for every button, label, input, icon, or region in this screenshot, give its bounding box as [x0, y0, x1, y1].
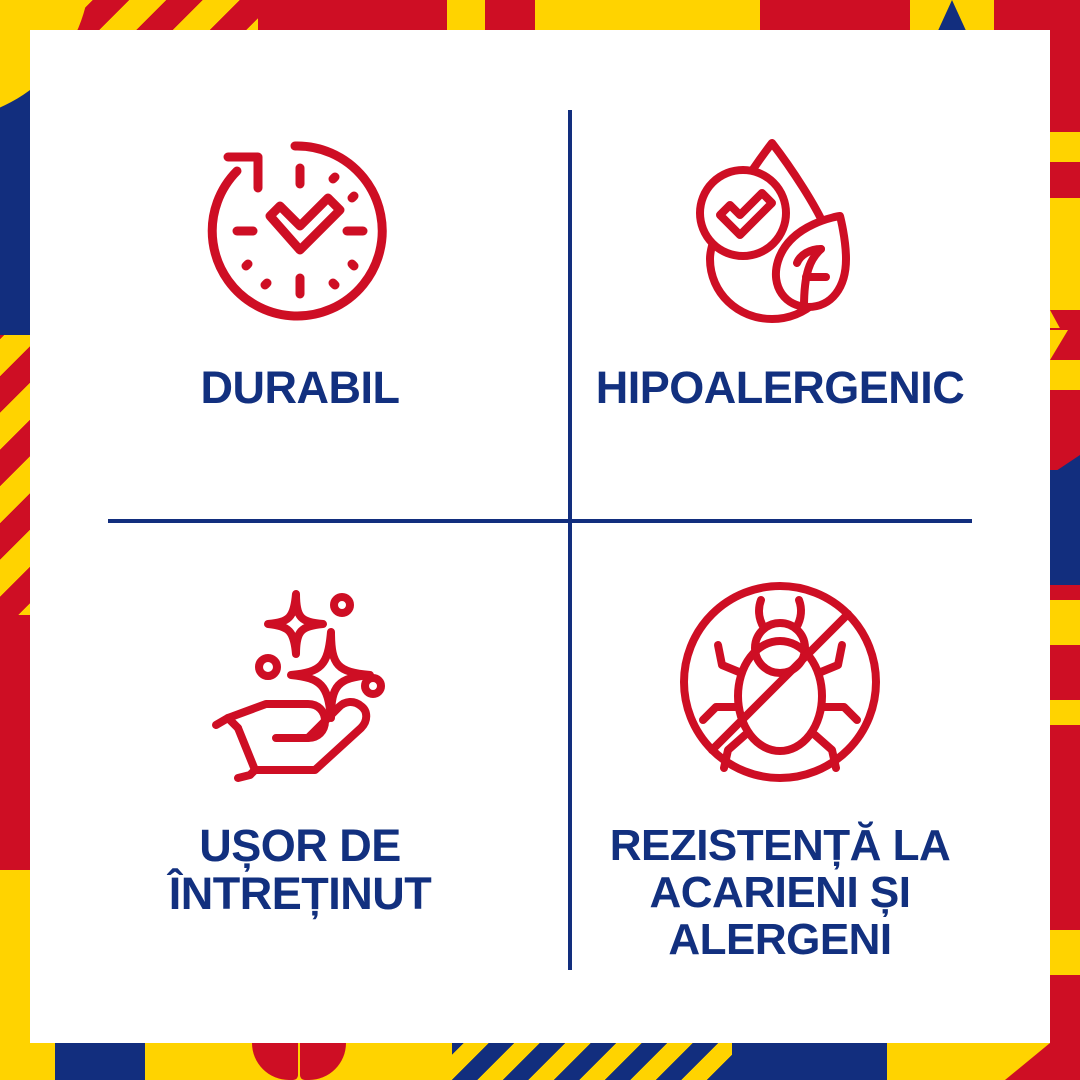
bg-right-navy-block	[1050, 470, 1080, 585]
horizontal-divider	[108, 519, 972, 523]
bg-bottom-right-red	[1050, 1043, 1080, 1080]
poster-canvas: DURABIL HIPOALERGENIC	[0, 0, 1080, 1080]
bg-bottom-navy-1	[55, 1043, 145, 1080]
bg-bottom-navy-2	[732, 1043, 887, 1080]
feature-cell-hipoalergenic[interactable]: HIPOALERGENIC	[545, 126, 1015, 496]
clock-rotate-check-icon	[195, 126, 405, 336]
bg-right-red-triangle-2	[1050, 310, 1080, 360]
hand-sparkles-icon	[195, 575, 405, 790]
feature-cell-usor-de-intretinut[interactable]: UȘOR DE ÎNTREȚINUT	[65, 575, 535, 975]
bg-right-yellow-6	[1050, 930, 1080, 975]
bg-right-yellow-5	[1050, 700, 1080, 725]
content-card: DURABIL HIPOALERGENIC	[30, 30, 1050, 1043]
bg-right-navy-tri	[1050, 455, 1080, 475]
feature-label-hipoalergenic: HIPOALERGENIC	[596, 364, 965, 412]
feature-cell-durabil[interactable]: DURABIL	[65, 126, 535, 496]
no-bug-icon	[675, 575, 885, 790]
bg-right-yellow-2	[1050, 198, 1080, 328]
bg-right-yellow-1	[1050, 132, 1080, 162]
feature-cell-rezistenta-acarieni[interactable]: REZISTENȚĂ LA ACARIENI ȘI ALERGENI	[545, 575, 1015, 975]
bg-right-yellow-4	[1050, 600, 1080, 645]
feature-label-usor-de-intretinut: UȘOR DE ÎNTREȚINUT	[169, 822, 431, 918]
feature-label-rezistenta-acarieni: REZISTENȚĂ LA ACARIENI ȘI ALERGENI	[545, 822, 1015, 963]
water-drop-leaf-check-icon	[675, 126, 885, 336]
bg-bottom-red-tri	[1005, 1043, 1050, 1080]
feature-label-durabil: DURABIL	[201, 364, 400, 412]
bg-bottom-stripes	[452, 1043, 732, 1080]
